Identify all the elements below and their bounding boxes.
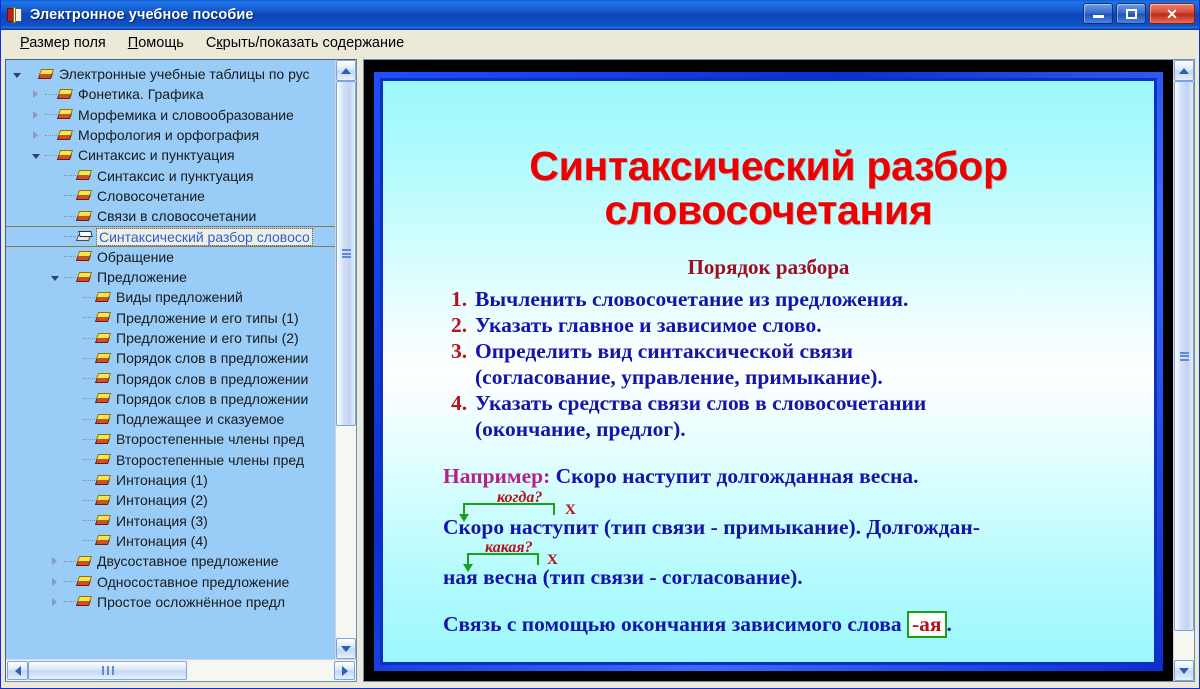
book-closed-icon: [96, 392, 111, 405]
menu-label-post: омощь: [138, 35, 184, 51]
step-text: Указать главное и зависимое слово.: [475, 312, 822, 338]
collapse-triangle-icon[interactable]: [48, 271, 61, 284]
content-scroll-track[interactable]: [1174, 81, 1194, 660]
contents-tree[interactable]: Электронные учебные таблицы по русФонети…: [6, 60, 335, 659]
analysis-text-1: Скоро наступит (тип связи - примыкание).…: [443, 515, 1128, 541]
menu-accel: Р: [20, 35, 29, 51]
steps-list: 1.Вычленить словосочетание из предложени…: [451, 286, 1128, 442]
tree-indent: [6, 450, 67, 470]
contents-tree-panel: Электронные учебные таблицы по русФонети…: [5, 59, 357, 682]
tree-indent: [6, 429, 67, 449]
tree-indent: [6, 247, 48, 267]
close-button[interactable]: ✕: [1149, 3, 1195, 24]
menu-bar: Размер поля Помощь Скрыть/показать содер…: [1, 30, 1199, 56]
scroll-grip-icon: [342, 248, 351, 260]
tree-item-26[interactable]: Простое осложнённое предл: [6, 592, 335, 612]
tree-scroll-track[interactable]: [336, 81, 356, 638]
tree-item-label: Порядок слов в предложении: [116, 371, 312, 387]
tree-item-2[interactable]: Морфемика и словообразование: [6, 105, 335, 125]
book-closed-icon: [96, 311, 111, 324]
tree-indent: [6, 84, 29, 104]
tree-item-label: Порядок слов в предложении: [116, 391, 312, 407]
tree-item-22[interactable]: Интонация (3): [6, 511, 335, 531]
slide-viewport: Синтаксический разбор словосочетания Пор…: [364, 60, 1173, 681]
book-closed-icon: [77, 210, 92, 223]
tree-connector-line: [83, 297, 95, 298]
conclusion-prefix: Связь с помощью окончания зависимого сло…: [443, 612, 907, 636]
tree-item-19[interactable]: Второстепенные члены пред: [6, 450, 335, 470]
analysis-arrow-1: когда? X: [455, 490, 1128, 515]
content-scroll-up-button[interactable]: [1174, 60, 1194, 81]
menu-label-post: азмер поля: [29, 35, 106, 51]
step-item-1: 1.Вычленить словосочетание из предложени…: [451, 286, 1128, 312]
tree-connector-line: [45, 135, 57, 136]
book-closed-icon: [58, 129, 73, 142]
tree-item-label: Простое осложнённое предл: [97, 594, 289, 610]
menu-label-pre: С: [206, 35, 216, 51]
tree-hscroll-thumb[interactable]: [28, 661, 187, 680]
tree-indent: [6, 490, 67, 510]
chevron-down-icon: [341, 646, 351, 652]
maximize-button[interactable]: [1116, 3, 1146, 24]
tree-item-10[interactable]: Предложение: [6, 267, 335, 287]
book-closed-icon: [96, 433, 111, 446]
menu-label-post: рыть/показать содержание: [223, 35, 405, 51]
tree-item-14[interactable]: Порядок слов в предложении: [6, 348, 335, 368]
analysis-text-2: ная весна (тип связи - согласование).: [443, 565, 1128, 591]
title-bar[interactable]: Электронное учебное пособие ✕: [1, 0, 1199, 30]
tree-connector-line: [83, 317, 95, 318]
scroll-grip-icon: [100, 666, 115, 675]
tree-item-label: Второстепенные члены пред: [116, 431, 308, 447]
collapse-triangle-icon[interactable]: [29, 149, 42, 162]
example-label: Например:: [443, 464, 550, 488]
tree-connector-line: [64, 236, 76, 237]
tree-item-label: Интонация (4): [116, 533, 212, 549]
book-closed-icon: [96, 372, 111, 385]
application-window: Электронное учебное пособие ✕ Размер пол…: [0, 0, 1200, 689]
tree-item-label: Электронные учебные таблицы по рус: [59, 66, 314, 82]
tree-connector-line: [26, 74, 38, 75]
expand-triangle-icon[interactable]: [48, 595, 61, 608]
book-closed-icon: [96, 413, 111, 426]
window-title: Электронное учебное пособие: [30, 7, 254, 23]
minimize-icon: [1093, 15, 1104, 18]
collapse-triangle-icon[interactable]: [10, 68, 23, 81]
tree-indent: [6, 470, 67, 490]
step-number: 4.: [451, 390, 475, 416]
tree-connector-line: [83, 378, 95, 379]
tree-indent: [6, 409, 67, 429]
book-closed-icon: [96, 494, 111, 507]
expand-triangle-icon[interactable]: [29, 88, 42, 101]
tree-connector-line: [64, 561, 76, 562]
tree-scroll-left-button[interactable]: [7, 661, 28, 680]
tree-item-label: Синтаксис и пунктуация: [78, 147, 239, 163]
tree-scroll-thumb[interactable]: [336, 81, 356, 426]
tree-item-label: Виды предложений: [116, 289, 247, 305]
expand-triangle-icon[interactable]: [29, 108, 42, 121]
tree-item-4[interactable]: Синтаксис и пунктуация: [6, 145, 335, 165]
tree-indent: [6, 145, 29, 165]
chevron-right-icon: [342, 666, 348, 676]
tree-connector-line: [45, 94, 57, 95]
slide-title: Синтаксический разбор словосочетания: [409, 145, 1128, 233]
menu-item-field-size[interactable]: Размер поля: [9, 32, 117, 54]
tree-item-1[interactable]: Фонетика. Графика: [6, 84, 335, 104]
tree-scroll-wrapper: Электронные учебные таблицы по русФонети…: [6, 60, 356, 659]
book-closed-icon: [96, 534, 111, 547]
step-item-4: 4.Указать средства связи слов в словосоч…: [451, 390, 1128, 416]
tree-item-label: Предложение: [97, 269, 191, 285]
book-closed-icon: [77, 575, 92, 588]
tree-indent: [6, 186, 48, 206]
tree-connector-line: [64, 277, 76, 278]
tree-horizontal-scrollbar[interactable]: [6, 659, 356, 681]
tree-indent: [6, 551, 48, 571]
tree-indent: [6, 227, 48, 245]
tree-item-label: Синтаксический разбор словосо: [97, 229, 312, 245]
tree-item-13[interactable]: Предложение и его типы (2): [6, 328, 335, 348]
x-marker-2: X: [547, 551, 558, 569]
tree-item-0[interactable]: Электронные учебные таблицы по рус: [6, 64, 335, 84]
book-closed-icon: [77, 595, 92, 608]
slide-title-line-1: Синтаксический разбор: [409, 145, 1128, 189]
tree-indent: [6, 368, 67, 388]
tree-item-label: Обращение: [97, 249, 178, 265]
tree-item-label: Порядок слов в предложении: [116, 350, 312, 366]
slide-frame: Синтаксический разбор словосочетания Пор…: [374, 72, 1163, 671]
tree-connector-line: [83, 419, 95, 420]
expand-triangle-icon[interactable]: [48, 575, 61, 588]
example-sentence-row: Например: Скоро наступит долгожданная ве…: [443, 464, 1128, 490]
tree-connector-line: [83, 480, 95, 481]
tree-hscroll-track[interactable]: [28, 661, 334, 680]
dependency-bracket-2: [467, 553, 539, 565]
tree-item-18[interactable]: Второстепенные члены пред: [6, 429, 335, 449]
close-icon: ✕: [1166, 7, 1178, 21]
content-vertical-scrollbar[interactable]: [1173, 60, 1194, 681]
tree-item-label: Односоставное предложение: [97, 574, 293, 590]
tree-indent: [6, 206, 48, 226]
book-closed-icon: [77, 555, 92, 568]
tree-item-3[interactable]: Морфология и орфография: [6, 125, 335, 145]
book-closed-icon: [77, 250, 92, 263]
tree-connector-line: [64, 601, 76, 602]
book-closed-icon: [77, 271, 92, 284]
tree-item-label: Словосочетание: [97, 188, 209, 204]
tree-scroll-up-button[interactable]: [336, 60, 356, 81]
chevron-up-icon: [1179, 68, 1189, 74]
tree-item-17[interactable]: Подлежащее и сказуемое: [6, 409, 335, 429]
content-scroll-down-button[interactable]: [1174, 660, 1194, 681]
tree-connector-line: [64, 216, 76, 217]
scroll-grip-icon: [1180, 350, 1189, 362]
book-closed-icon: [96, 291, 111, 304]
conclusion-row: Связь с помощью окончания зависимого сло…: [443, 611, 1128, 638]
tree-connector-line: [64, 581, 76, 582]
book-closed-icon: [58, 108, 73, 121]
tree-item-label: Морфология и орфография: [78, 127, 263, 143]
order-heading: Порядок разбора: [409, 255, 1128, 280]
tree-connector-line: [45, 155, 57, 156]
x-marker-1: X: [565, 501, 576, 519]
app-book-icon: [6, 6, 24, 24]
tree-item-label: Второстепенные члены пред: [116, 452, 308, 468]
tree-connector-line: [83, 338, 95, 339]
tree-item-label: Интонация (3): [116, 513, 212, 529]
book-closed-icon: [96, 474, 111, 487]
tree-indent: [6, 287, 67, 307]
tree-item-5[interactable]: Синтаксис и пунктуация: [6, 165, 335, 185]
book-closed-icon: [58, 149, 73, 162]
tree-item-12[interactable]: Предложение и его типы (1): [6, 308, 335, 328]
tree-indent: [6, 571, 48, 591]
tree-item-label: Предложение и его типы (1): [116, 310, 303, 326]
slide-title-line-2: словосочетания: [409, 189, 1128, 233]
step-number: 1.: [451, 286, 475, 312]
step-continuation-3: (согласование, управление, примыкание).: [475, 364, 1128, 390]
tree-item-11[interactable]: Виды предложений: [6, 287, 335, 307]
tree-item-8[interactable]: Синтаксический разбор словосо: [6, 226, 335, 246]
step-item-3: 3.Определить вид синтаксической связи: [451, 338, 1128, 364]
tree-indent: [6, 592, 48, 612]
book-closed-icon: [96, 514, 111, 527]
tree-scroll-right-button[interactable]: [334, 661, 355, 680]
chevron-up-icon: [341, 68, 351, 74]
step-text: Определить вид синтаксической связи: [475, 338, 853, 364]
tree-indent: [6, 328, 67, 348]
tree-item-16[interactable]: Порядок слов в предложении: [6, 389, 335, 409]
tree-item-label: Синтаксис и пунктуация: [97, 168, 258, 184]
book-closed-icon: [58, 88, 73, 101]
tree-indent: [6, 165, 48, 185]
tree-item-label: Подлежащее и сказуемое: [116, 411, 288, 427]
tree-connector-line: [83, 398, 95, 399]
tree-item-label: Морфемика и словообразование: [78, 107, 298, 123]
tree-connector-line: [83, 540, 95, 541]
content-scroll-thumb[interactable]: [1174, 81, 1194, 631]
tree-connector-line: [64, 175, 76, 176]
tree-indent: [6, 389, 67, 409]
step-text: Указать средства связи слов в словосочет…: [475, 390, 926, 416]
chevron-left-icon: [15, 666, 21, 676]
slide-content-panel: Синтаксический разбор словосочетания Пор…: [363, 59, 1195, 682]
tree-item-21[interactable]: Интонация (2): [6, 490, 335, 510]
tree-item-20[interactable]: Интонация (1): [6, 470, 335, 490]
tree-item-label: Двусоставное предложение: [97, 553, 283, 569]
ending-highlight: -ая: [907, 611, 947, 638]
tree-item-7[interactable]: Связи в словосочетании: [6, 206, 335, 226]
tree-item-label: Предложение и его типы (2): [116, 330, 303, 346]
dependency-bracket-1: [463, 503, 555, 515]
step-text: Вычленить словосочетание из предложения.: [475, 286, 908, 312]
book-closed-icon: [39, 68, 54, 81]
tree-scroll-down-button[interactable]: [336, 638, 356, 659]
tree-connector-line: [45, 114, 57, 115]
tree-indent: [6, 531, 67, 551]
analysis-arrow-2: какая? X: [455, 540, 1128, 565]
tree-item-15[interactable]: Порядок слов в предложении: [6, 368, 335, 388]
menu-item-help[interactable]: Помощь: [117, 32, 195, 54]
tree-indent: [6, 308, 67, 328]
tree-connector-line: [64, 195, 76, 196]
tree-connector-line: [83, 500, 95, 501]
tree-connector-line: [83, 439, 95, 440]
tree-item-9[interactable]: Обращение: [6, 247, 335, 267]
slide: Синтаксический разбор словосочетания Пор…: [383, 81, 1154, 662]
tree-indent: [6, 348, 67, 368]
chevron-down-icon: [1179, 668, 1189, 674]
book-closed-icon: [96, 332, 111, 345]
conclusion-suffix: .: [947, 612, 952, 636]
tree-indent: [6, 125, 29, 145]
tree-vertical-scrollbar[interactable]: [335, 60, 356, 659]
tree-indent: [6, 105, 29, 125]
tree-indent: [6, 267, 48, 287]
book-closed-icon: [96, 453, 111, 466]
step-continuation-4: (окончание, предлог).: [475, 416, 1128, 442]
tree-indent: [6, 511, 67, 531]
tree-item-6[interactable]: Словосочетание: [6, 186, 335, 206]
tree-item-23[interactable]: Интонация (4): [6, 531, 335, 551]
tree-item-label: Фонетика. Графика: [78, 86, 208, 102]
tree-item-25[interactable]: Односоставное предложение: [6, 571, 335, 591]
tree-connector-line: [64, 256, 76, 257]
step-item-2: 2.Указать главное и зависимое слово.: [451, 312, 1128, 338]
menu-accel: П: [128, 35, 138, 51]
tree-connector-line: [83, 358, 95, 359]
menu-item-toggle-contents[interactable]: Скрыть/показать содержание: [195, 32, 415, 54]
example-sentence: Скоро наступит долгожданная весна.: [556, 464, 919, 488]
tree-item-label: Интонация (1): [116, 472, 212, 488]
tree-connector-line: [83, 520, 95, 521]
tree-item-label: Интонация (2): [116, 492, 212, 508]
tree-item-24[interactable]: Двусоставное предложение: [6, 551, 335, 571]
tree-connector-line: [83, 459, 95, 460]
expand-triangle-icon[interactable]: [48, 555, 61, 568]
step-number: 2.: [451, 312, 475, 338]
maximize-icon: [1126, 9, 1137, 19]
minimize-button[interactable]: [1083, 3, 1113, 24]
tree-item-label: Связи в словосочетании: [97, 208, 260, 224]
example-block: Например: Скоро наступит долгожданная ве…: [443, 464, 1128, 638]
book-closed-icon: [77, 189, 92, 202]
book-closed-icon: [96, 352, 111, 365]
book-open-icon: [77, 230, 92, 243]
main-body: Электронные учебные таблицы по русФонети…: [1, 56, 1199, 688]
step-number: 3.: [451, 338, 475, 364]
window-controls: ✕: [1083, 3, 1195, 24]
book-closed-icon: [77, 169, 92, 182]
expand-triangle-icon[interactable]: [29, 129, 42, 142]
